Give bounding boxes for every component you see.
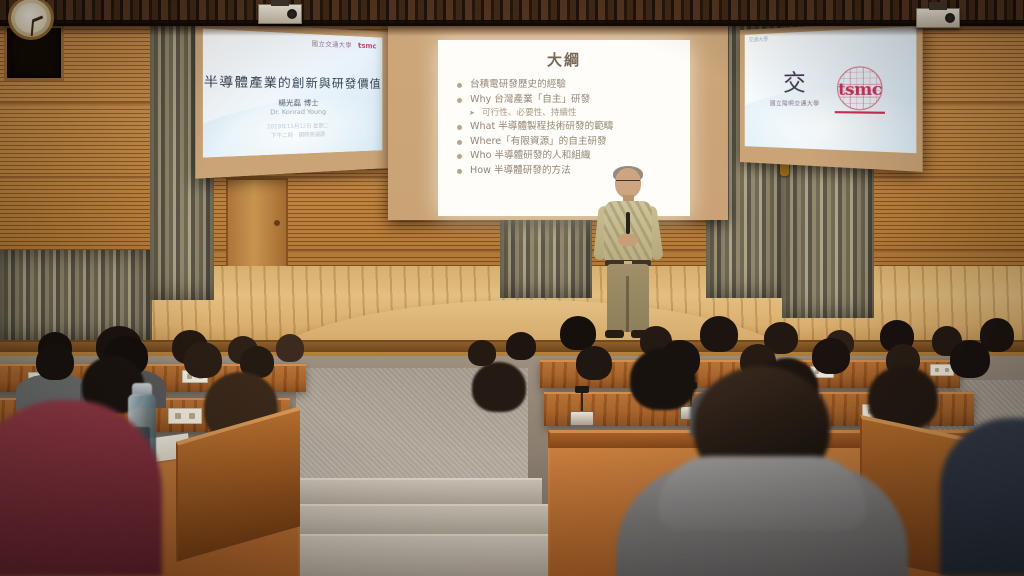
slide-logos: 國立交通大學 tsmc [312,38,377,50]
audience-head [276,334,304,362]
slide-heading: 大綱 [448,49,680,70]
ceiling-projector-right [916,8,960,28]
projection-screen-left: 國立交通大學 tsmc 半導體產業的創新與研發價值 楊光磊 博士 Dr. Kon… [195,21,388,178]
aisle-step-1 [286,478,542,504]
bullet-item: What 半導體製程技術研發的範疇 [456,120,680,135]
speaker-trousers [607,264,649,332]
speaker-glasses [616,180,640,185]
grey-hoodie-attendee [612,372,912,576]
lecture-hall-photo: 國立交通大學 tsmc 半導體產業的創新與研發價值 楊光磊 博士 Dr. Kon… [0,0,1024,576]
projection-screen-right: 交通大學 交 國立陽明交通大學 tsmc [740,20,923,172]
slide-date-line-2: 下午二時 ‧ 國際會議廳 [271,131,325,139]
tsmc-logo-text: tsmc [358,41,377,50]
tsmc-globe-icon: tsmc [837,66,883,111]
bullet-sub-item: 可行性、必要性、持續性 [456,107,680,120]
audience-head [36,344,74,380]
aisle-step-3 [256,534,566,576]
university-glyph: 交 [770,73,820,96]
tsmc-wordmark: tsmc [838,80,881,100]
university-logo: 交 國立陽明交通大學 [770,73,820,108]
audience-head [506,332,536,360]
power-outlet[interactable] [168,408,202,424]
slide-date-line-1: 2019年11月12日 星期二 [267,123,329,131]
handheld-microphone [626,212,630,234]
slide-bullet-list: 台積電研發歷史的經驗 Why 台灣產業「自主」研發 可行性、必要性、持續性 Wh… [448,78,680,179]
audience-head [950,340,990,378]
speaker-figure [596,168,660,340]
projection-screen-main: 大綱 台積電研發歷史的經驗 Why 台灣產業「自主」研發 可行性、必要性、持續性… [388,18,728,220]
slide-corner-label: 交通大學 [749,37,768,44]
bullet-item: Where「有限資源」的自主研發 [456,135,680,150]
ceiling-projector-left [258,4,302,24]
tsmc-logo: tsmc [835,66,885,113]
audience-head [472,362,526,412]
bullet-item: 台積電研發歷史的經驗 [456,78,680,93]
desk-microphone[interactable] [570,386,594,426]
aisle-step-2 [272,504,554,534]
audience-head [560,316,596,350]
university-logo-text: 國立交通大學 [312,38,352,49]
stage-curtain-far-left [0,250,152,340]
ceiling-shadow [0,20,1024,36]
logo-slide: 交通大學 交 國立陽明交通大學 tsmc [745,26,917,153]
speaker-hands [618,234,638,246]
title-slide: 國立交通大學 tsmc 半導體產業的創新與研發價值 楊光磊 博士 Dr. Kon… [203,29,382,158]
stage-door-left[interactable] [226,178,288,270]
university-name: 國立陽明交通大學 [770,99,820,108]
speaker-shoe-left [605,330,624,338]
audience-head [184,342,222,378]
hoodie-hood [658,456,866,530]
slide-title: 半導體產業的創新與研發價值 [203,72,382,92]
bullet-item: Who 半導體研發的人和組織 [456,149,680,164]
bullet-item: Why 台灣產業「自主」研發 [456,93,680,108]
audience-head [576,346,612,380]
audience-head [700,316,738,352]
audience-head [812,338,850,374]
